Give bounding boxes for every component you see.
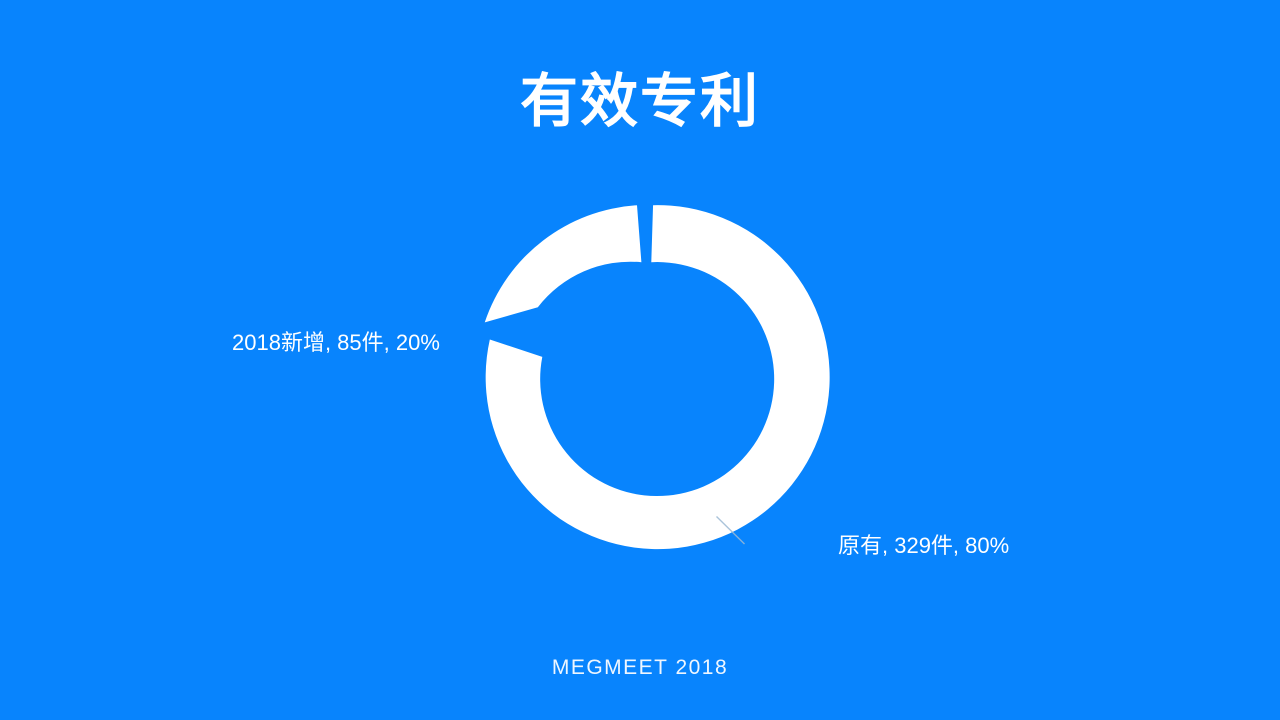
- doughnut-chart-svg: [0, 0, 1280, 720]
- pie-slice-new-2018[interactable]: [485, 205, 642, 322]
- slide-canvas: 有效专利 2018新增, 85件, 20% 原有, 329件, 80% MEGM…: [0, 0, 1280, 720]
- data-label-new-2018: 2018新增, 85件, 20%: [232, 330, 440, 356]
- data-label-existing: 原有, 329件, 80%: [838, 533, 1009, 559]
- doughnut-chart: [0, 0, 1280, 720]
- footer-brand: MEGMEET 2018: [0, 655, 1280, 681]
